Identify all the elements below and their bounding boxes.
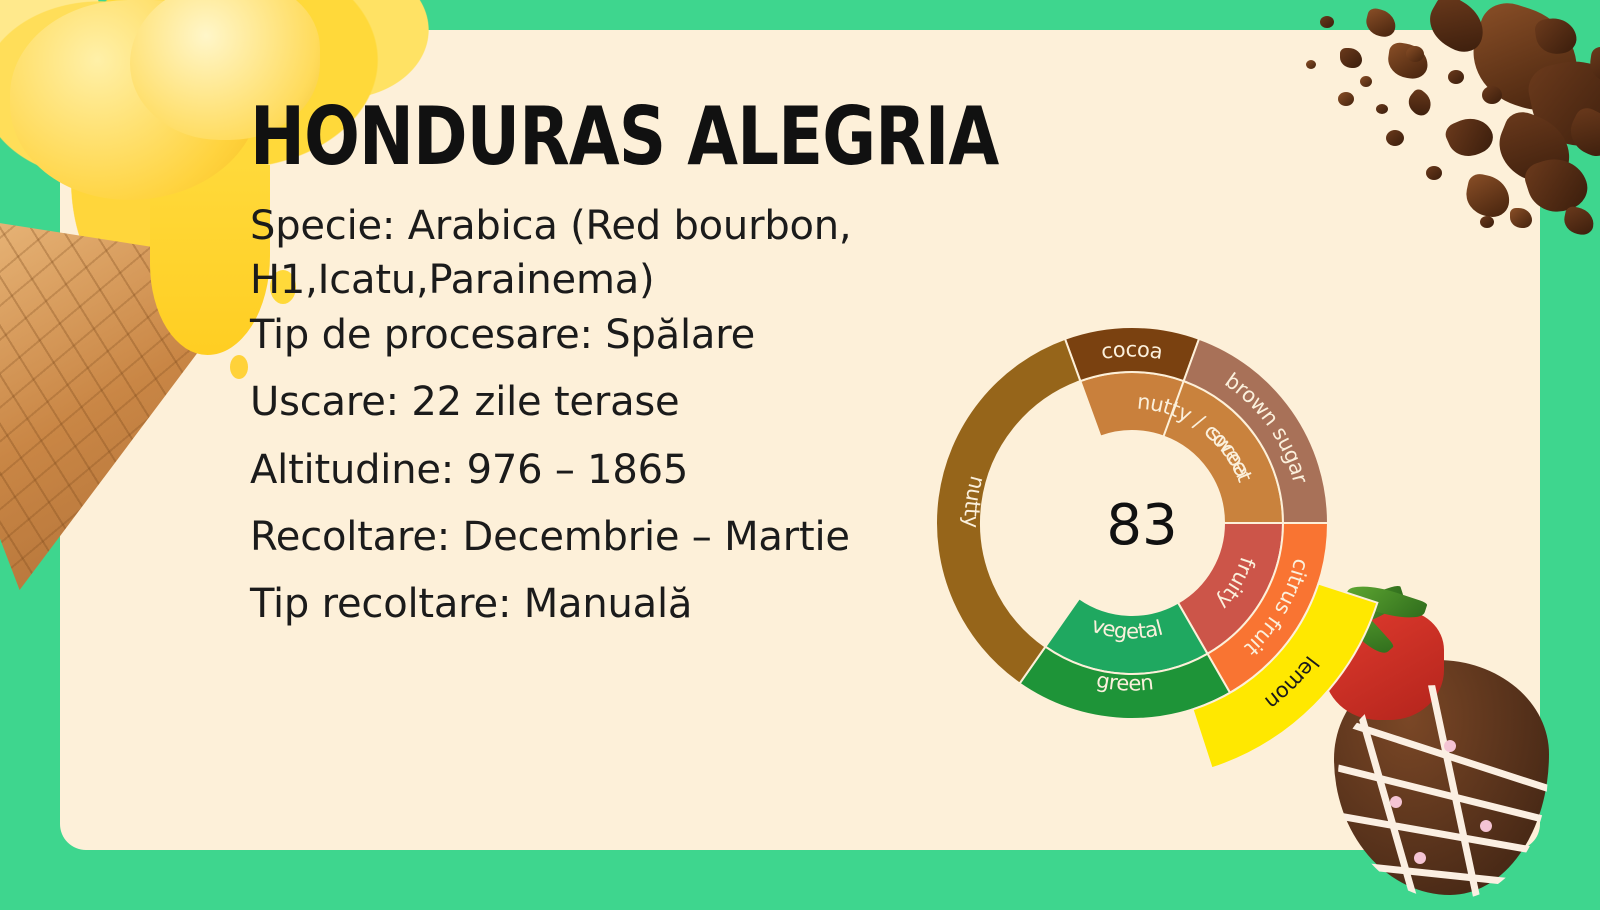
chocolate-crumb [1534, 15, 1579, 56]
flavour-wheel-chart: nutty / cocoasweetfruityvegetalcocoabrow… [874, 265, 1394, 785]
slide-canvas: HONDURAS ALEGRIA Specie: Arabica (Red bo… [0, 0, 1600, 900]
chocolate-crumb [1563, 104, 1600, 162]
page-title: HONDURAS ALEGRIA [250, 95, 873, 179]
fact-specie-line2: H1,Icatu,Parainema) [250, 257, 890, 303]
score-value: 83 [874, 265, 1394, 785]
chocolate-crumb [1588, 46, 1600, 85]
fact-specie-line1: Specie: Arabica (Red bourbon, [250, 203, 890, 249]
chocolate-crumb [1320, 16, 1334, 28]
chocolate-crumb [1562, 205, 1597, 237]
pink-sprinkle-4 [1414, 852, 1426, 864]
